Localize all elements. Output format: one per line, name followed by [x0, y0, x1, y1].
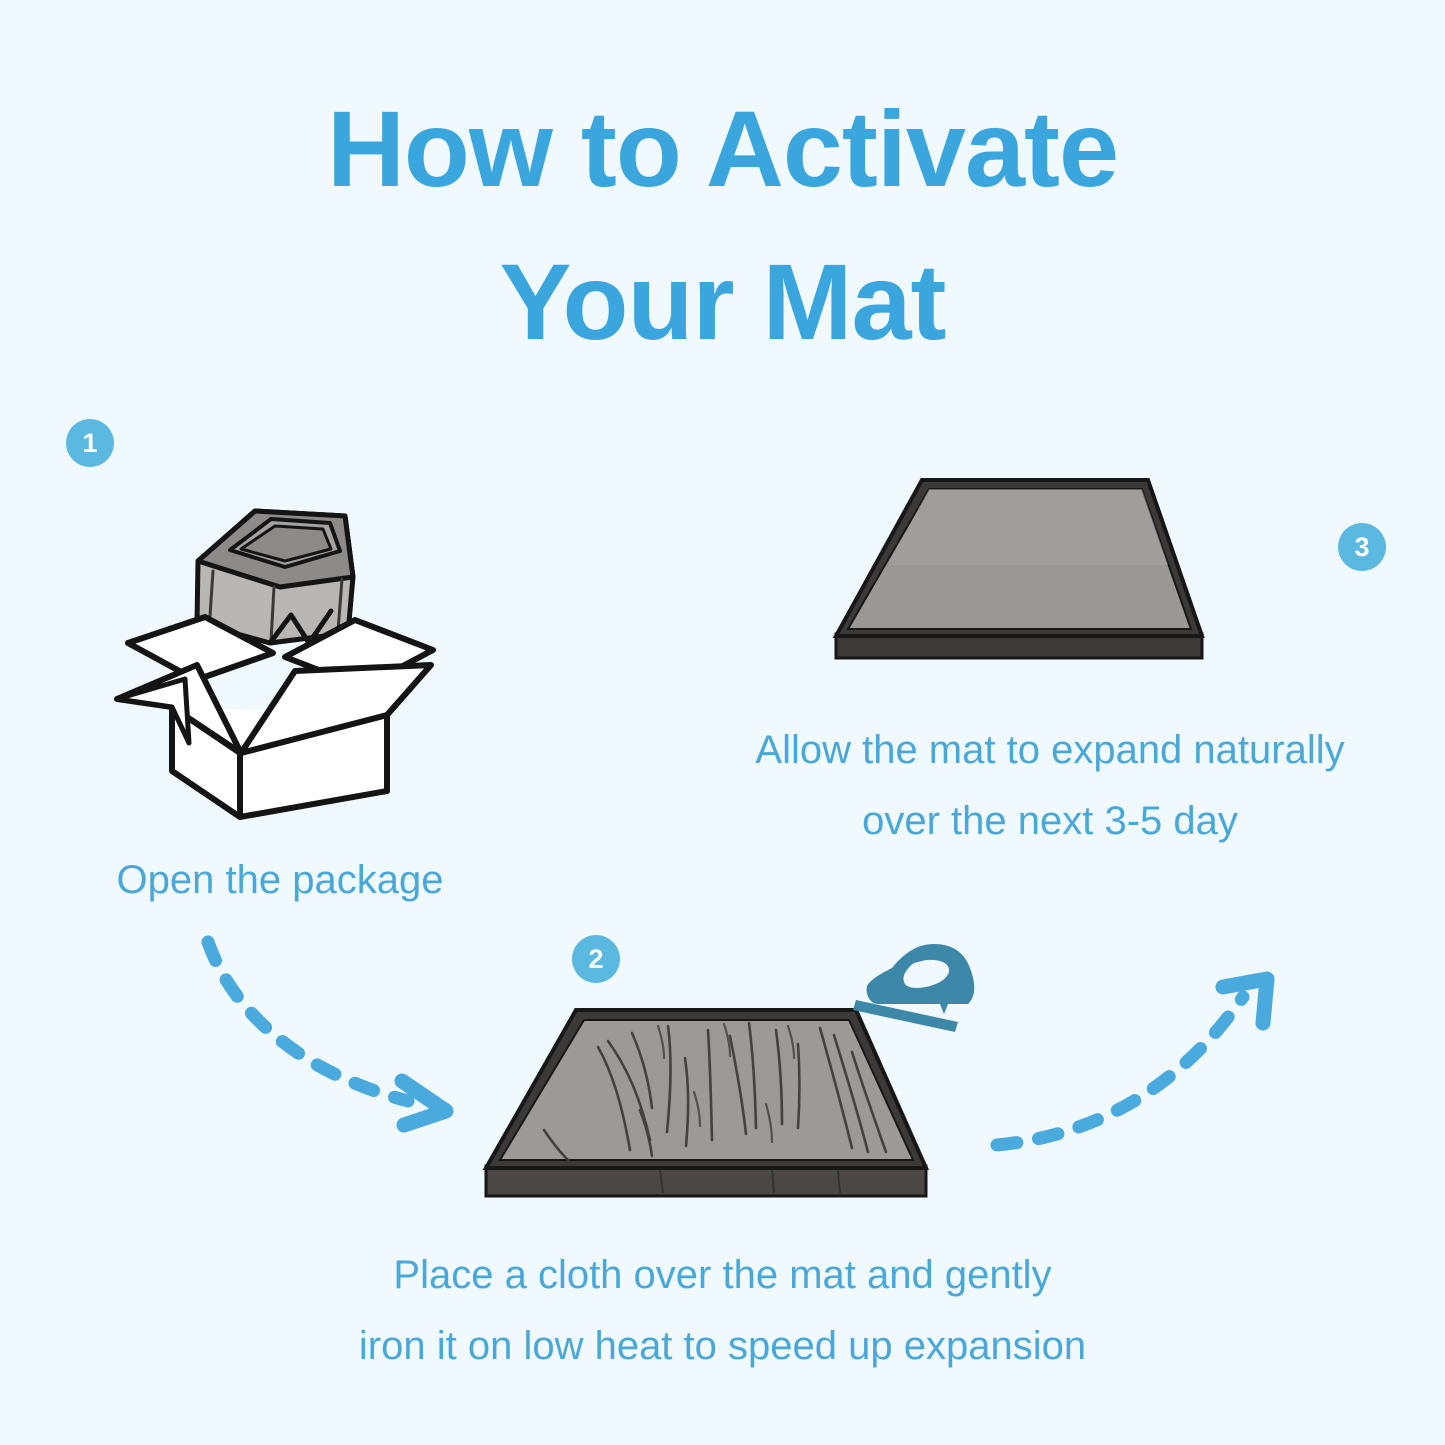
step-1-caption-line-1: Open the package [40, 845, 520, 916]
page-title-line-2: Your Mat [0, 225, 1445, 378]
step-1-caption: Open the package [40, 845, 520, 916]
page-title: How to Activate Your Mat [0, 72, 1445, 379]
page-title-line-1: How to Activate [0, 72, 1445, 225]
step-2-caption-line-2: iron it on low heat to speed up expansio… [230, 1311, 1215, 1382]
step-1-badge: 1 [66, 419, 114, 467]
step-3-caption-line-2: over the next 3-5 day [660, 786, 1440, 857]
flat-expanded-mat-icon [830, 470, 1300, 680]
step-2-caption-line-1: Place a cloth over the mat and gently [230, 1240, 1215, 1311]
dashed-arrow-step1-to-step2-icon [160, 915, 500, 1145]
step-2-caption: Place a cloth over the mat and gently ir… [230, 1240, 1215, 1382]
dashed-arrow-step2-to-step3-icon [975, 955, 1315, 1185]
step-2-badge: 2 [572, 935, 620, 983]
open-cardboard-box-icon [95, 475, 445, 825]
step-3-caption: Allow the mat to expand naturally over t… [660, 715, 1440, 857]
clothes-iron-icon [852, 938, 992, 1033]
infographic-page: How to Activate Your Mat 1 [0, 0, 1445, 1445]
step-3-badge: 3 [1338, 523, 1386, 571]
step-3-caption-line-1: Allow the mat to expand naturally [660, 715, 1440, 786]
